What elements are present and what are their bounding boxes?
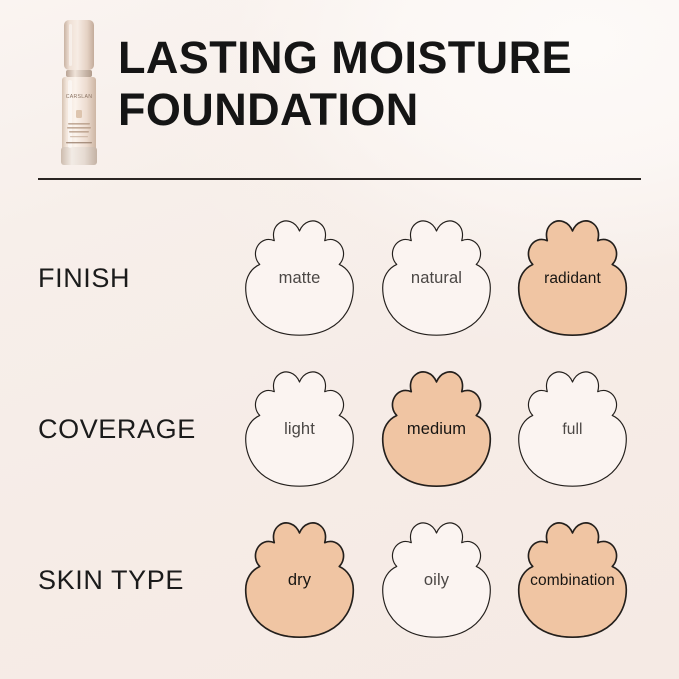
option-blob-matte[interactable]: matte	[237, 215, 362, 342]
product-attribute-infographic: CARSLAN LASTING MOISTURE FOUNDATION FINI…	[0, 0, 679, 679]
option-blob-natural[interactable]: natural	[374, 215, 499, 342]
option-blob-radidant[interactable]: radidant	[510, 215, 635, 342]
blob-shape-icon	[374, 215, 499, 342]
row-label-finish: FINISH	[38, 202, 243, 354]
option-blob-light[interactable]: light	[237, 366, 362, 493]
blob-shape-icon	[374, 366, 499, 493]
option-group: lightmediumfull	[237, 353, 667, 505]
option-blob-combination[interactable]: combination	[510, 517, 635, 644]
option-group: mattenaturalradidant	[237, 202, 667, 354]
blob-shape-icon	[374, 517, 499, 644]
header-divider	[38, 178, 641, 180]
attribute-row: SKIN TYPEdryoilycombination	[0, 504, 679, 656]
attribute-row: COVERAGElightmediumfull	[0, 353, 679, 505]
option-blob-full[interactable]: full	[510, 366, 635, 493]
option-blob-medium[interactable]: medium	[374, 366, 499, 493]
attribute-rows: FINISHmattenaturalradidantCOVERAGElightm…	[0, 186, 679, 679]
blob-shape-icon	[510, 366, 635, 493]
row-label-coverage: COVERAGE	[38, 353, 243, 505]
blob-shape-icon	[237, 215, 362, 342]
row-label-skin-type: SKIN TYPE	[38, 504, 243, 656]
header: CARSLAN LASTING MOISTURE FOUNDATION	[0, 0, 679, 186]
option-group: dryoilycombination	[237, 504, 667, 656]
attribute-row: FINISHmattenaturalradidant	[0, 202, 679, 354]
foundation-bottle-image: CARSLAN	[56, 18, 102, 170]
page-title: LASTING MOISTURE FOUNDATION	[118, 32, 648, 136]
blob-shape-icon	[237, 366, 362, 493]
svg-text:CARSLAN: CARSLAN	[66, 94, 93, 100]
blob-shape-icon	[510, 517, 635, 644]
option-blob-dry[interactable]: dry	[237, 517, 362, 644]
blob-shape-icon	[237, 517, 362, 644]
option-blob-oily[interactable]: oily	[374, 517, 499, 644]
blob-shape-icon	[510, 215, 635, 342]
